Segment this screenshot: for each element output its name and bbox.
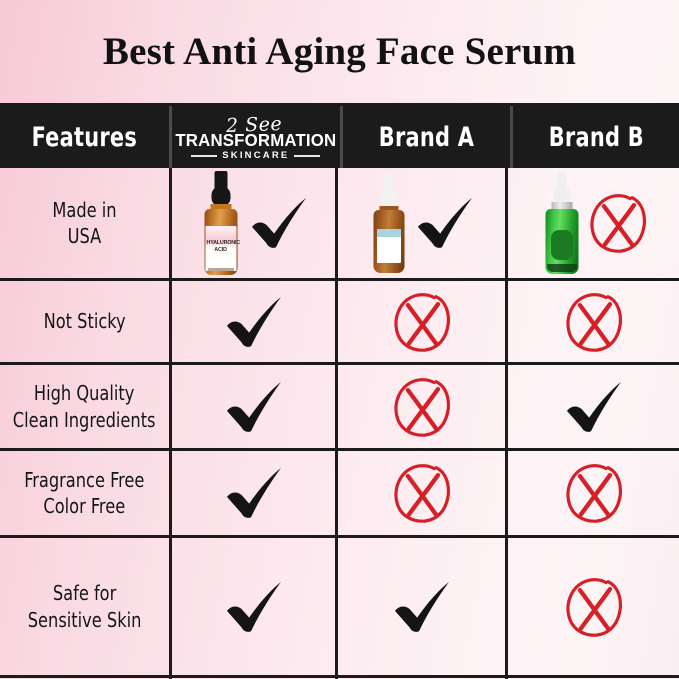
cell-brand-main [172, 365, 338, 448]
feature-label: Fragrance Free Color Free [24, 467, 144, 519]
feature-label: Safe for Sensitive Skin [28, 580, 142, 632]
cross-icon [564, 574, 624, 640]
logo-sub-text: SKINCARE [222, 151, 289, 161]
cell-brand-a [338, 281, 508, 362]
table-row: Not Sticky [0, 281, 679, 365]
cross-icon [392, 460, 452, 526]
cell-brand-b [508, 168, 679, 278]
comparison-table: Features 2 See TRANSFORMATION SKINCARE B… [0, 103, 679, 679]
cell-brand-main [172, 451, 338, 535]
check-icon [248, 195, 310, 251]
logo-main-text: TRANSFORMATION [175, 132, 336, 150]
check-icon [223, 379, 285, 435]
transformation-skincare-logo: 2 See TRANSFORMATION SKINCARE [172, 114, 340, 161]
table-row: High Quality Clean Ingredients [0, 365, 679, 451]
row-feature-cell: Fragrance Free Color Free [0, 451, 172, 535]
cross-icon [392, 289, 452, 355]
cell-brand-main [172, 538, 338, 675]
title-bar: Best Anti Aging Face Serum [0, 0, 679, 103]
header-cell-brand-logo: 2 See TRANSFORMATION SKINCARE [172, 106, 343, 168]
cell-brand-b [508, 538, 679, 675]
cell-brand-a [338, 538, 508, 675]
table-row: Safe for Sensitive Skin [0, 538, 679, 678]
header-label-brand-b: Brand B [548, 122, 643, 153]
check-icon [223, 465, 285, 521]
table-header-row: Features 2 See TRANSFORMATION SKINCARE B… [0, 106, 679, 168]
cross-icon [588, 190, 648, 256]
page-title: Best Anti Aging Face Serum [103, 29, 576, 74]
check-icon [563, 379, 625, 435]
row-feature-cell: Made in USA [0, 168, 172, 278]
logo-rule-right-icon [294, 155, 320, 157]
logo-rule-left-icon [191, 155, 217, 157]
cell-brand-a [338, 168, 508, 278]
cell-brand-a [338, 451, 508, 535]
cell-brand-b [508, 365, 679, 448]
hyaluronic-acid-serum-bottle: HYALURONICACID [198, 171, 244, 275]
feature-label: Not Sticky [43, 308, 125, 334]
feature-label: High Quality Clean Ingredients [13, 380, 156, 432]
logo-sub-row: SKINCARE [191, 151, 320, 161]
header-label-features: Features [32, 122, 137, 153]
header-cell-brand-a: Brand A [343, 106, 513, 168]
brand-a-serum-bottle [368, 173, 410, 273]
cell-brand-a [338, 365, 508, 448]
row-feature-cell: High Quality Clean Ingredients [0, 365, 172, 448]
table-row: Made in USA HYALURONICACID [0, 168, 679, 281]
cell-brand-b [508, 281, 679, 362]
cross-icon [564, 460, 624, 526]
cell-brand-main [172, 281, 338, 362]
check-icon [391, 579, 453, 635]
cell-brand-b [508, 451, 679, 535]
check-icon [414, 195, 476, 251]
cell-brand-main: HYALURONICACID [172, 168, 338, 278]
header-label-brand-a: Brand A [379, 122, 474, 153]
header-cell-brand-b: Brand B [513, 106, 679, 168]
row-feature-cell: Safe for Sensitive Skin [0, 538, 172, 675]
cross-icon [392, 374, 452, 440]
cross-icon [564, 289, 624, 355]
feature-label: Made in USA [52, 197, 116, 249]
header-cell-features: Features [0, 106, 172, 168]
check-icon [223, 294, 285, 350]
brand-b-serum-bottle [540, 172, 584, 274]
row-feature-cell: Not Sticky [0, 281, 172, 362]
table-row: Fragrance Free Color Free [0, 451, 679, 538]
check-icon [223, 579, 285, 635]
